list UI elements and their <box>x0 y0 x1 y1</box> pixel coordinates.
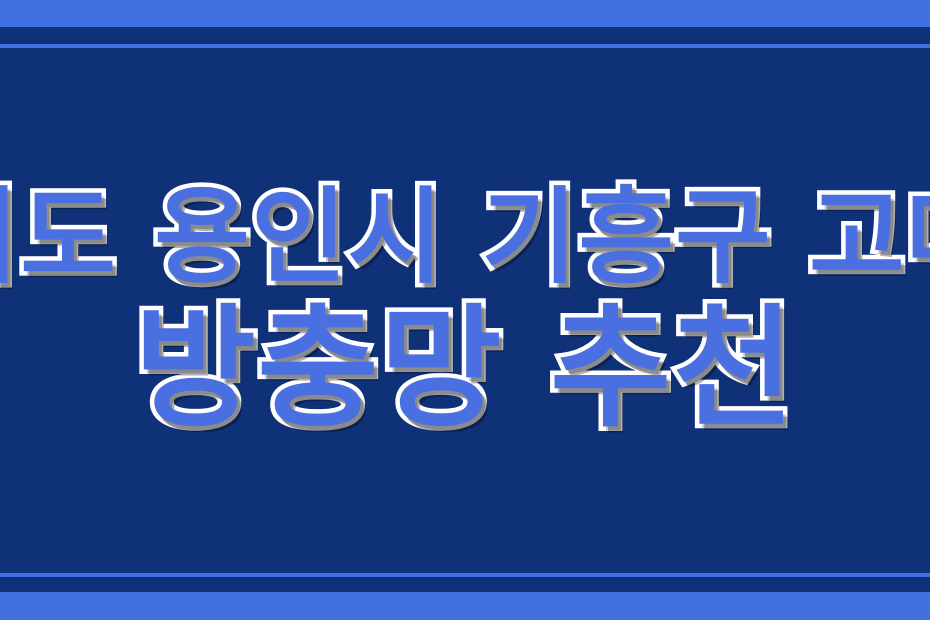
headline-block: 경기도 용인시 기흥구 고매동 방충망 추천 <box>0 0 930 620</box>
headline-line-2: 방충망 추천 <box>134 303 795 435</box>
promo-banner: 경기도 용인시 기흥구 고매동 방충망 추천 <box>0 0 930 620</box>
headline-line-1: 경기도 용인시 기흥구 고매동 <box>0 185 930 289</box>
